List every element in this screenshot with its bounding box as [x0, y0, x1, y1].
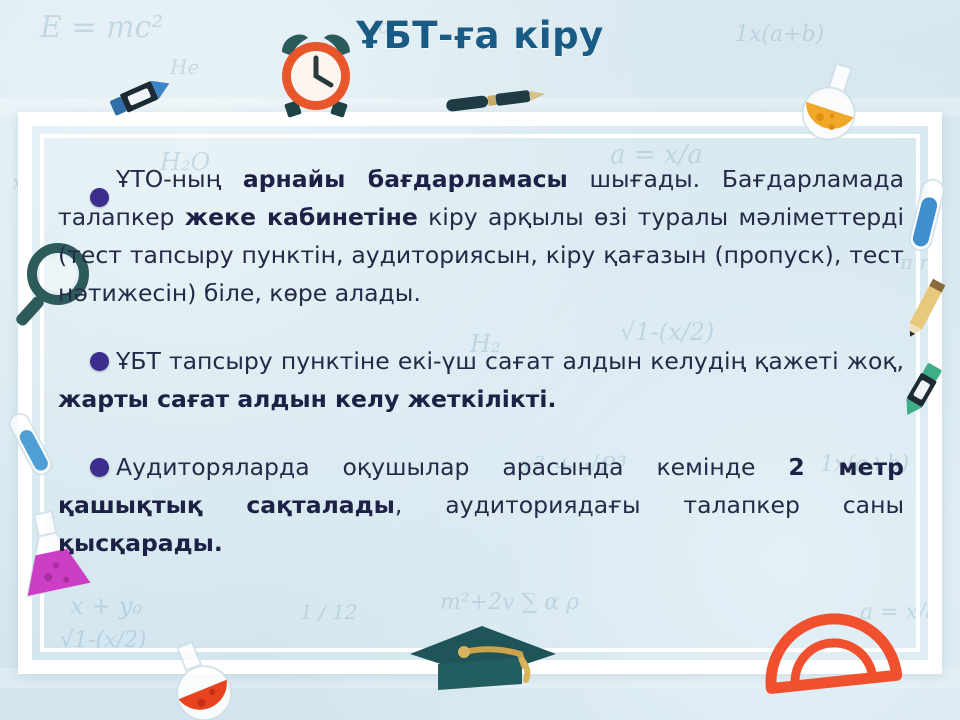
paragraph-spacer	[58, 328, 904, 342]
bullet-point-icon	[90, 352, 109, 371]
page-title: ҰБТ-ға кіру	[0, 14, 960, 57]
p3-run-2: , аудиториядағы талапкер саны	[395, 491, 904, 519]
p1-run-1: арнайы бағдарламасы	[243, 165, 568, 193]
p1-run-3: жеке кабинетіне	[185, 203, 418, 231]
p1-run-0: ҰТО-ның	[116, 165, 243, 193]
bullet-paragraph-2: ҰБТ тапсыру пунктіне екі-үш сағат алдын …	[58, 342, 904, 418]
p2-run-1: жарты сағат алдын келу жеткілікті.	[58, 385, 556, 413]
slide-root: E = mc² 1x(a+b) H₂O c₁ a = x/a H₂ √1-(x/…	[0, 0, 960, 720]
bullet-paragraph-3: Аудиторяларда оқушылар арасында кемінде …	[58, 448, 904, 562]
p3-run-0: Аудиторяларда оқушылар арасында кемінде	[116, 453, 788, 481]
bullet-point-icon	[90, 458, 109, 477]
bullet-point-icon	[90, 188, 109, 207]
bullet-paragraph-1: ҰТО-ның арнайы бағдарламасы шығады. Бағд…	[58, 160, 904, 312]
paragraph-spacer	[58, 434, 904, 448]
p2-run-0: ҰБТ тапсыру пунктіне екі-үш сағат алдын …	[116, 347, 904, 375]
p3-run-3: қысқарады.	[58, 529, 223, 557]
slide-body: ҰТО-ның арнайы бағдарламасы шығады. Бағд…	[58, 160, 904, 630]
